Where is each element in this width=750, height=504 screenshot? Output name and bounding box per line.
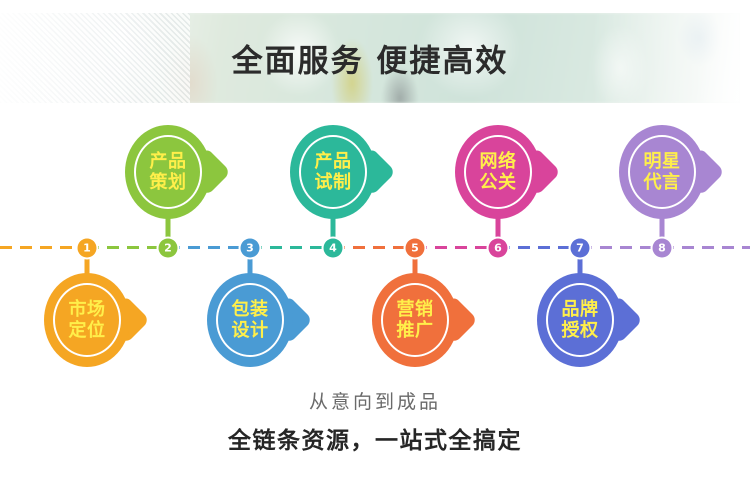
timeline-node-3[interactable]: 3 — [241, 238, 260, 257]
pin-label-1: 市场 定位 — [44, 299, 130, 341]
pin-label-3: 包装 设计 — [207, 299, 293, 341]
banner-title: 全面服务 便捷高效 — [0, 36, 740, 81]
timeline-segment-9 — [662, 246, 750, 249]
timeline-node-4[interactable]: 4 — [324, 238, 343, 257]
timeline-node-2[interactable]: 2 — [159, 238, 178, 257]
timeline-segment-1 — [0, 246, 87, 249]
footer-subtitle: 从意向到成品 — [0, 388, 750, 416]
footer-headline: 全链条资源，一站式全搞定 — [0, 426, 750, 456]
pin-label-5: 营销 推广 — [372, 299, 458, 341]
process-step-pin-1[interactable]: 市场 定位 — [44, 273, 130, 367]
process-step-pin-5[interactable]: 营销 推广 — [372, 273, 458, 367]
timeline-segment-4 — [250, 246, 333, 249]
timeline-node-7[interactable]: 7 — [571, 238, 590, 257]
timeline-segment-6 — [415, 246, 498, 249]
process-step-pin-4[interactable]: 产品 试制 — [290, 125, 376, 219]
pin-label-4: 产品 试制 — [290, 151, 376, 193]
process-step-pin-2[interactable]: 产品 策划 — [125, 125, 211, 219]
process-step-pin-8[interactable]: 明星 代言 — [619, 125, 705, 219]
timeline-node-8[interactable]: 8 — [653, 238, 672, 257]
process-step-pin-3[interactable]: 包装 设计 — [207, 273, 293, 367]
pin-label-7: 品牌 授权 — [537, 299, 623, 341]
timeline-segment-7 — [498, 246, 580, 249]
timeline-segment-3 — [168, 246, 250, 249]
pin-label-8: 明星 代言 — [619, 151, 705, 193]
pin-label-2: 产品 策划 — [125, 151, 211, 193]
process-step-pin-6[interactable]: 网络 公关 — [455, 125, 541, 219]
timeline-segment-8 — [580, 246, 662, 249]
footer-block: 从意向到成品 全链条资源，一站式全搞定 — [0, 388, 750, 456]
pin-label-6: 网络 公关 — [455, 151, 541, 193]
timeline-node-1[interactable]: 1 — [78, 238, 97, 257]
timeline-segment-5 — [333, 246, 415, 249]
timeline-node-5[interactable]: 5 — [406, 238, 425, 257]
timeline-segment-2 — [87, 246, 168, 249]
process-timeline: 12345678 — [0, 239, 750, 256]
process-step-pin-7[interactable]: 品牌 授权 — [537, 273, 623, 367]
timeline-node-6[interactable]: 6 — [489, 238, 508, 257]
header-banner: 全面服务 便捷高效 — [0, 13, 740, 103]
